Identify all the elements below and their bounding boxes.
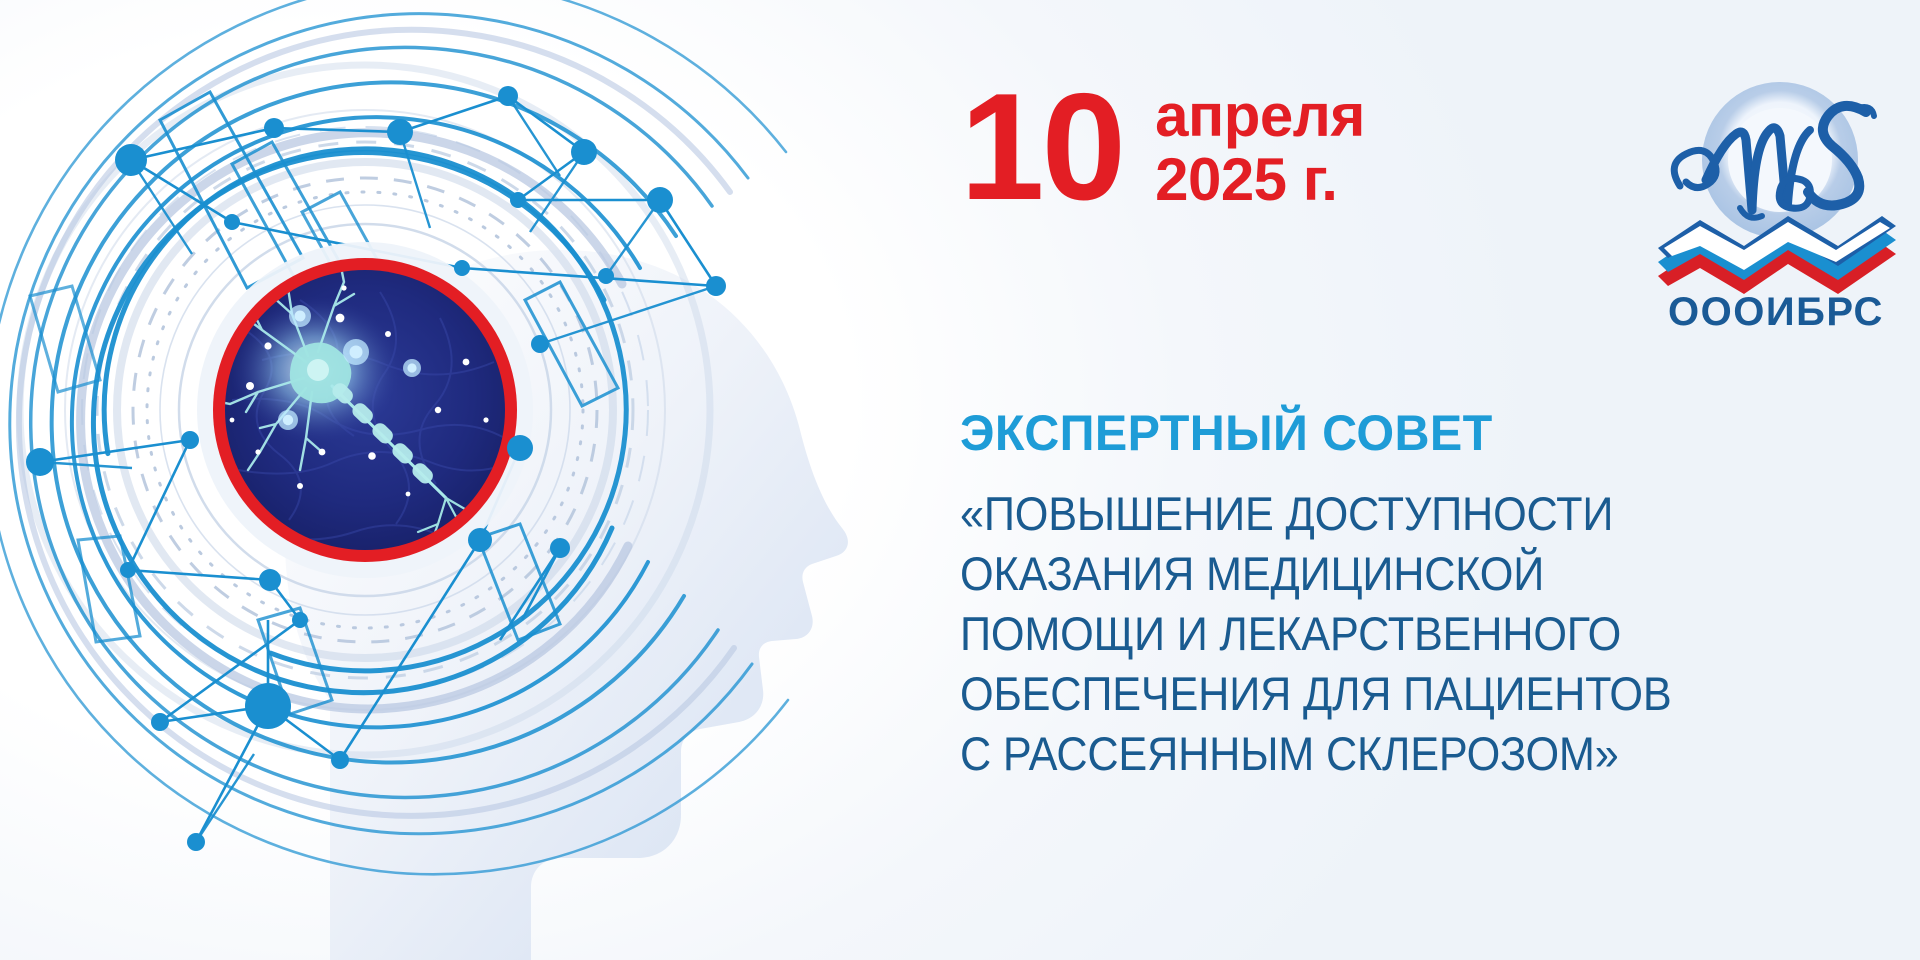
subtitle-line-5: С РАССЕЯННЫМ СКЛЕРОЗОМ» bbox=[960, 724, 1834, 784]
date-day: 10 bbox=[960, 78, 1123, 218]
page-title: ЭКСПЕРТНЫЙ СОВЕТ bbox=[960, 404, 1493, 462]
event-subtitle: «ПОВЫШЕНИЕ ДОСТУПНОСТИ ОКАЗАНИЯ МЕДИЦИНС… bbox=[960, 484, 1910, 784]
event-banner: 10 апреля 2025 г. bbox=[0, 0, 1920, 960]
subtitle-line-2: ОКАЗАНИЯ МЕДИЦИНСКОЙ bbox=[960, 544, 1834, 604]
subtitle-line-4: ОБЕСПЕЧЕНИЯ ДЛЯ ПАЦИЕНТОВ bbox=[960, 664, 1834, 724]
date-year: 2025 г. bbox=[1155, 148, 1365, 212]
logo-tricolor-ribbon bbox=[1658, 216, 1896, 294]
content-column: 10 апреля 2025 г. bbox=[940, 0, 1920, 960]
date-month-year: апреля 2025 г. bbox=[1155, 84, 1365, 211]
event-date: 10 апреля 2025 г. bbox=[960, 78, 1365, 218]
neuro-graphic bbox=[0, 0, 940, 960]
subtitle-line-1: «ПОВЫШЕНИЕ ДОСТУПНОСТИ bbox=[960, 484, 1834, 544]
core-circle-group bbox=[197, 242, 533, 578]
logo-acronym: ОООИБРС bbox=[1646, 290, 1906, 335]
subtitle-line-3: ПОМОЩИ И ЛЕКАРСТВЕННОГО bbox=[960, 604, 1834, 664]
organization-logo bbox=[1652, 62, 1902, 312]
date-month: апреля bbox=[1155, 84, 1365, 148]
